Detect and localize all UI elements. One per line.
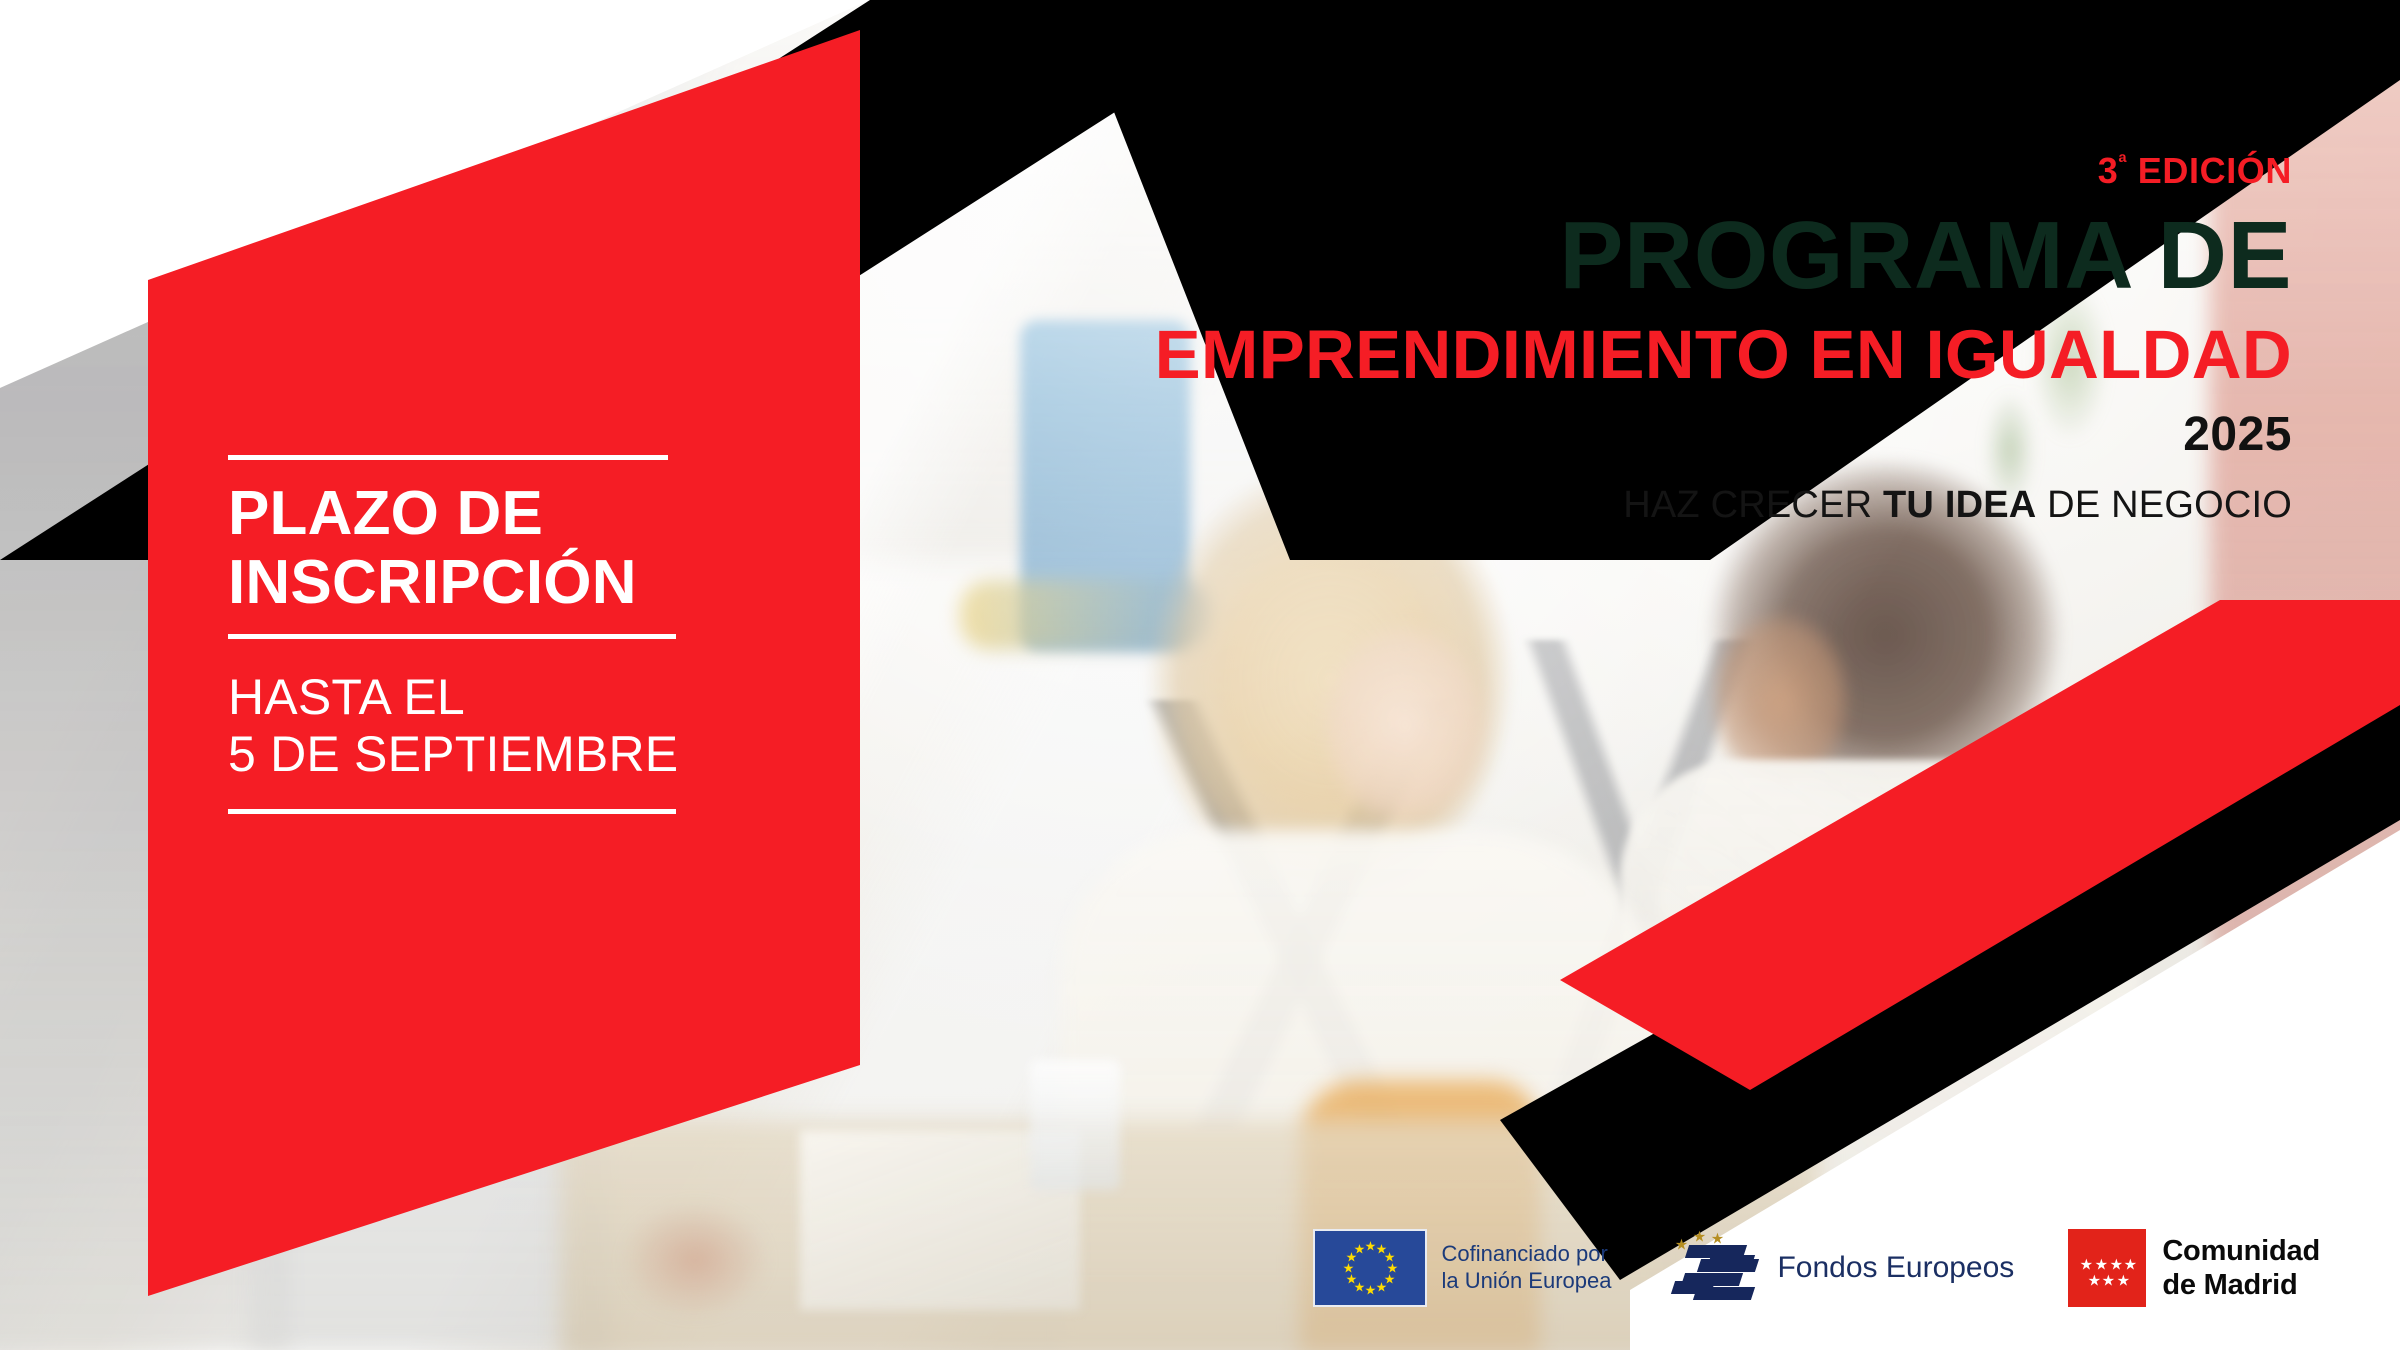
program-year: 2025 [872,407,2292,462]
logo-fondos-europeos: ★★★ Fondos Europeos [1665,1231,2014,1305]
deadline-top-rule [228,455,668,460]
deadline-title-line1: PLAZO DE [228,479,543,548]
fondos-star-icon: ★ [1675,1238,1688,1253]
tagline: HAZ CRECER TU IDEA DE NEGOCIO [872,484,2292,527]
program-topic: EMPRENDIMIENTO EN IGUALDAD [872,320,2292,389]
eu-star-icon: ★ [1365,1240,1377,1253]
deadline-title-line2: INSCRIPCIÓN [228,551,788,614]
fondos-europeos-label: Fondos Europeos [1777,1251,2014,1285]
madrid-star-icon: ★ [2117,1274,2130,1289]
eu-logo-line2: la Unión Europea [1441,1268,1611,1295]
logo-comunidad-de-madrid: ★★★★★★★ Comunidad de Madrid [2068,1229,2320,1307]
deadline-block: PLAZO DE INSCRIPCIÓN HASTA EL 5 DE SEPTI… [228,455,788,814]
edition-label: 3ª EDICIÓN [872,150,2292,192]
comunidad-de-madrid-flag-icon: ★★★★★★★ [2068,1229,2146,1307]
madrid-star-icon: ★ [2088,1274,2101,1289]
fondos-europeos-mark-icon: ★★★ [1665,1231,1761,1305]
madrid-line1: Comunidad [2162,1234,2320,1268]
deadline-subtitle-line2: 5 DE SEPTIEMBRE [228,726,788,783]
funding-logo-strip: ★★★★★★★★★★★★ Cofinanciado por la Unión E… [1190,1220,2320,1316]
edition-ordinal: ª [2118,150,2127,175]
edition-word: EDICIÓN [2138,150,2292,191]
tagline-pre: HAZ CRECER [1623,484,1883,526]
deadline-bottom-rule [228,809,676,814]
madrid-star-icon: ★ [2110,1258,2123,1273]
deadline-title: PLAZO DE INSCRIPCIÓN [228,482,788,614]
madrid-star-icon: ★ [2124,1258,2137,1273]
promotional-banner: PLAZO DE INSCRIPCIÓN HASTA EL 5 DE SEPTI… [0,0,2400,1350]
madrid-star-icon: ★ [2080,1258,2093,1273]
deadline-subtitle-line1: HASTA EL [228,669,465,725]
madrid-star-icon: ★ [2102,1274,2115,1289]
fondos-star-icon: ★ [1711,1232,1724,1247]
tagline-bold: TU IDEA [1883,484,2036,526]
edition-number: 3 [2098,150,2119,191]
fondos-bar-icon [1707,1255,1755,1268]
deadline-subtitle: HASTA EL 5 DE SEPTIEMBRE [228,669,788,783]
eu-star-icon: ★ [1365,1284,1377,1297]
tagline-post: DE NEGOCIO [2036,484,2292,526]
comunidad-de-madrid-label: Comunidad de Madrid [2162,1234,2320,1302]
eu-star-icon: ★ [1376,1281,1388,1294]
fondos-bar-icon [1671,1281,1715,1294]
program-title: PROGRAMA DE [872,208,2292,304]
logo-european-union: ★★★★★★★★★★★★ Cofinanciado por la Unión E… [1315,1231,1611,1305]
eu-flag-icon: ★★★★★★★★★★★★ [1315,1231,1425,1305]
madrid-line2: de Madrid [2162,1268,2320,1302]
deadline-middle-rule [228,634,676,639]
eu-star-icon: ★ [1354,1242,1366,1255]
eu-logo-text: Cofinanciado por la Unión Europea [1441,1241,1611,1295]
headline-block: 3ª EDICIÓN PROGRAMA DE EMPRENDIMIENTO EN… [872,150,2292,527]
eu-logo-line1: Cofinanciado por [1441,1241,1611,1268]
fondos-star-icon: ★ [1693,1230,1706,1245]
madrid-star-icon: ★ [2095,1258,2108,1273]
